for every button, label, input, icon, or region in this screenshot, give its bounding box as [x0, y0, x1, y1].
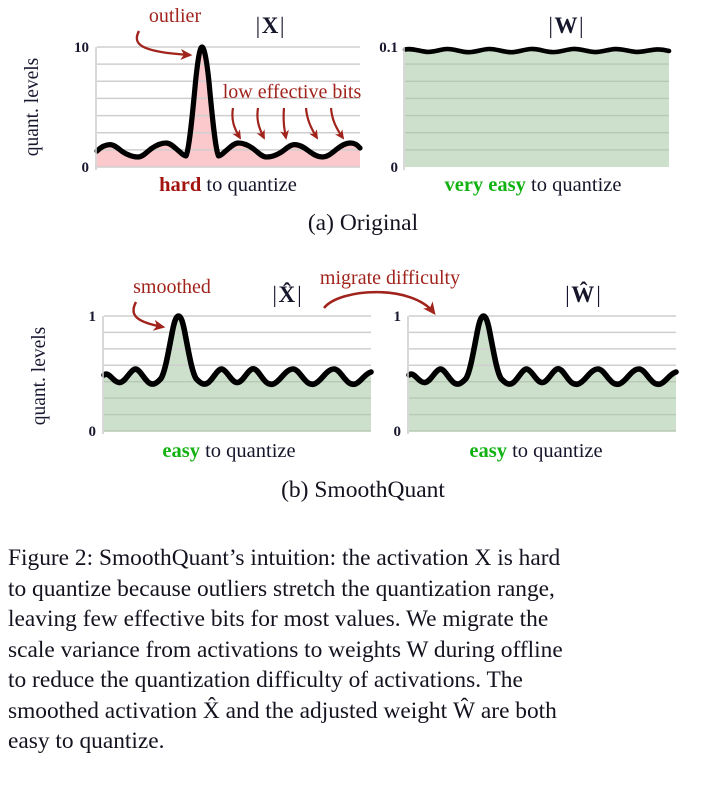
y-tick-min: 0: [394, 424, 402, 440]
panel-smoothed-activation: 1 0 quant. levels |X̂| smoothed easy to …: [29, 276, 371, 462]
svg-text:|W|: |W|: [548, 13, 583, 38]
caption-line: easy to quantize.: [8, 726, 718, 757]
panel-b-left-bottom-label: easy to quantize: [162, 440, 295, 462]
panel-original-weight: 0.1 0 |W| very easy to quantize: [379, 13, 669, 196]
caption-line-5: to reduce the quantization difficulty of…: [8, 667, 523, 693]
y-tick-min: 0: [391, 160, 399, 176]
figure-2: 10 0 quant. levels |X| outlier low effec…: [0, 0, 726, 530]
smoothed-annotation-label: smoothed: [133, 276, 211, 298]
gridlines-upper: [409, 316, 676, 365]
to-quantize-b-right: to quantize: [507, 440, 603, 462]
panel-a-left-bottom-label: hard to quantize: [159, 174, 297, 196]
caption-line: leaving few effective bits for most valu…: [8, 604, 718, 635]
figure-caption: Figure 2: SmoothQuant’s intuition: the a…: [8, 543, 718, 757]
outlier-annotation-label: outlier: [149, 5, 202, 27]
panel-title-What: |Ŵ|: [565, 281, 601, 307]
y-tick-max: 1: [394, 309, 402, 325]
to-quantize-a-right: to quantize: [526, 174, 622, 196]
y-tick-min: 0: [89, 424, 97, 440]
migrate-difficulty-group: migrate difficulty: [320, 267, 460, 313]
subcaption-b: (b) SmoothQuant: [281, 477, 445, 503]
panel-title-W: |W|: [548, 13, 583, 38]
caption-line-6: smoothed activation X̂ and the adjusted …: [8, 698, 557, 724]
easy-word-left: easy: [162, 440, 200, 462]
caption-line-4: scale variance from activations to weigh…: [8, 637, 563, 663]
migrate-difficulty-label: migrate difficulty: [320, 267, 460, 289]
very-easy-word: very easy: [444, 174, 526, 196]
caption-line: scale variance from activations to weigh…: [8, 635, 718, 666]
low-effective-bits-arrows: [232, 108, 343, 138]
caption-line: Figure 2: SmoothQuant’s intuition: the a…: [8, 543, 718, 574]
outlier-arrow: [137, 31, 190, 55]
y-tick-max: 1: [89, 309, 97, 325]
subcaption-a: (a) Original: [308, 210, 419, 236]
panel-title-X: |X|: [256, 13, 285, 38]
svg-text:|Ŵ|: |Ŵ|: [565, 281, 601, 307]
panel-a-right-bottom-label: very easy to quantize: [444, 174, 621, 196]
easy-word-right: easy: [469, 440, 507, 462]
svg-text:|X|: |X|: [256, 13, 285, 38]
caption-line: smoothed activation X̂ and the adjusted …: [8, 696, 718, 727]
to-quantize-b-left: to quantize: [200, 440, 296, 462]
caption-line-7: easy to quantize.: [8, 728, 165, 754]
caption-line-1: Figure 2: SmoothQuant’s intuition: the a…: [8, 545, 560, 571]
y-tick-max: 10: [74, 40, 89, 56]
y-tick-max: 0.1: [379, 40, 398, 56]
caption-line: to reduce the quantization difficulty of…: [8, 665, 718, 696]
panel-title-Xhat: |X̂|: [272, 281, 301, 307]
caption-line-3: leaving few effective bits for most valu…: [8, 606, 548, 632]
panel-b-right-bottom-label: easy to quantize: [469, 440, 602, 462]
migrate-difficulty-arrow: [324, 292, 434, 313]
low-effective-bits-label: low effective bits: [223, 81, 362, 103]
gridlines-upper: [104, 316, 371, 365]
y-axis-label: quant. levels: [22, 58, 43, 157]
svg-text:|X̂|: |X̂|: [272, 281, 301, 307]
caption-line-2: to quantize because outliers stretch the…: [8, 576, 555, 602]
panel-adjusted-weight: 1 0 |Ŵ| easy to quantize: [394, 281, 677, 462]
caption-line: to quantize because outliers stretch the…: [8, 574, 718, 605]
y-tick-min: 0: [82, 160, 90, 176]
panel-original-activation: 10 0 quant. levels |X| outlier low effec…: [22, 5, 361, 196]
to-quantize-a-left: to quantize: [201, 174, 297, 196]
smoothed-arrow: [133, 302, 163, 327]
y-axis-label: quant. levels: [29, 327, 50, 426]
figure-svg: 10 0 quant. levels |X| outlier low effec…: [0, 0, 726, 530]
hard-word: hard: [159, 174, 202, 196]
